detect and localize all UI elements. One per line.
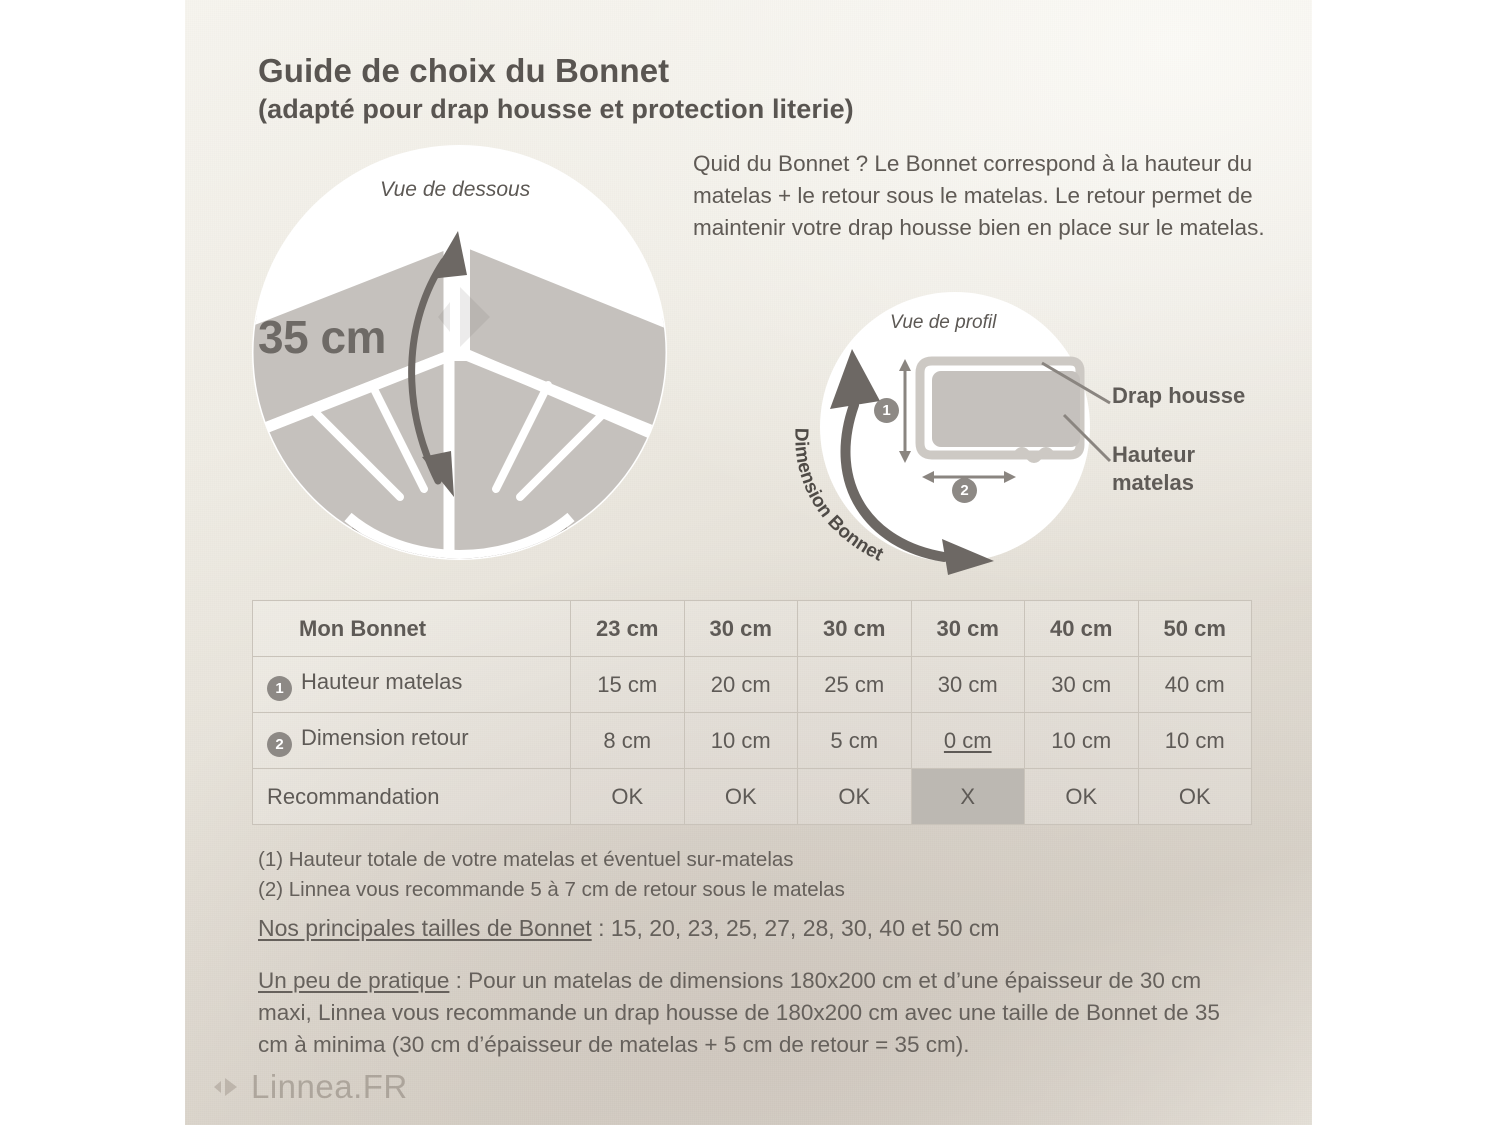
table-header-cell: 30 cm [798,601,912,657]
table-cell: OK [1138,769,1252,825]
mattress-height-label-line1: Hauteur [1112,441,1195,469]
table-cell: 10 cm [1138,713,1252,769]
table-cell: 30 cm [1025,657,1139,713]
table-cell: OK [798,769,912,825]
table-cell: 40 cm [1138,657,1252,713]
mattress-height-label-line2: matelas [1112,469,1195,497]
table-cell: OK [571,769,685,825]
table-cell: 20 cm [684,657,798,713]
table-cell: 30 cm [911,657,1025,713]
available-sizes-line: Nos principales tailles de Bonnet : 15, … [258,915,1238,942]
row-label-mattress-height: 1Hauteur matelas [253,657,571,713]
table-cell: 8 cm [571,713,685,769]
bottom-view-label: Vue de dessous [380,178,530,202]
table-cell: 5 cm [798,713,912,769]
marker-2-badge: 2 [952,478,986,503]
practical-example: Un peu de pratique : Pour un matelas de … [258,965,1248,1061]
mattress-height-label: Hauteur matelas [1112,441,1195,496]
table-header-cell: 23 cm [571,601,685,657]
brand-logo: Linnea.FR [213,1068,408,1106]
table-header-row: Mon Bonnet 23 cm 30 cm 30 cm 30 cm 40 cm… [253,601,1252,657]
row-badge-2: 2 [267,732,292,757]
row-badge-1: 1 [267,676,292,701]
row-label-text: Hauteur matelas [301,669,462,694]
svg-text:Dimension Bonnet: Dimension Bonnet [790,428,887,566]
table-cell: 15 cm [571,657,685,713]
table-cell: 25 cm [798,657,912,713]
diamond-logo-icon [213,1076,239,1098]
intro-paragraph: Quid du Bonnet ? Le Bonnet correspond à … [693,148,1273,244]
arc-label-text: Dimension Bonnet [790,428,887,566]
available-sizes-label: Nos principales tailles de Bonnet [258,915,592,941]
title-line-2: (adapté pour drap housse et protection l… [258,92,1158,126]
table-header-cell: 50 cm [1138,601,1252,657]
table-header-cell: 30 cm [911,601,1025,657]
table-row: 1Hauteur matelas 15 cm 20 cm 25 cm 30 cm… [253,657,1252,713]
practical-example-label: Un peu de pratique [258,968,449,993]
row-label-recommendation: Recommandation [253,769,571,825]
row-label-return-dimension: 2Dimension retour [253,713,571,769]
bonnet-table: Mon Bonnet 23 cm 30 cm 30 cm 30 cm 40 cm… [252,600,1252,825]
available-sizes-value: : 15, 20, 23, 25, 27, 28, 30, 40 et 50 c… [592,915,1000,941]
underlined-value: 0 cm [944,728,992,753]
poster-canvas: Guide de choix du Bonnet (adapté pour dr… [0,0,1500,1125]
profile-view-label: Vue de profil [890,312,996,334]
footnote-1: (1) Hauteur totale de votre matelas et é… [258,845,1218,875]
table-header-cell: 30 cm [684,601,798,657]
table-header-cell: 40 cm [1025,601,1139,657]
row-label-text: Dimension retour [301,725,469,750]
table-cell: OK [1025,769,1139,825]
table-cell: OK [684,769,798,825]
brand-logo-text: Linnea.FR [251,1068,408,1106]
sheet-label: Drap housse [1112,382,1245,410]
table-row: Recommandation OK OK OK X OK OK [253,769,1252,825]
table-cell: 10 cm [684,713,798,769]
arc-label-dimension-bonnet: Dimension Bonnet [786,418,956,588]
title-line-1: Guide de choix du Bonnet [258,50,1158,92]
table-cell-not-recommended: X [911,769,1025,825]
table-cell-highlight: 0 cm [911,713,1025,769]
footnote-2: (2) Linnea vous recommande 5 à 7 cm de r… [258,875,1218,905]
bonnet-measure-value: 35 cm [258,310,386,364]
page-title: Guide de choix du Bonnet (adapté pour dr… [258,50,1158,126]
bonnet-comparison-table: Mon Bonnet 23 cm 30 cm 30 cm 30 cm 40 cm… [252,600,1252,825]
table-header-label: Mon Bonnet [253,601,571,657]
table-row: 2Dimension retour 8 cm 10 cm 5 cm 0 cm 1… [253,713,1252,769]
table-cell: 10 cm [1025,713,1139,769]
footnotes: (1) Hauteur totale de votre matelas et é… [258,845,1218,904]
